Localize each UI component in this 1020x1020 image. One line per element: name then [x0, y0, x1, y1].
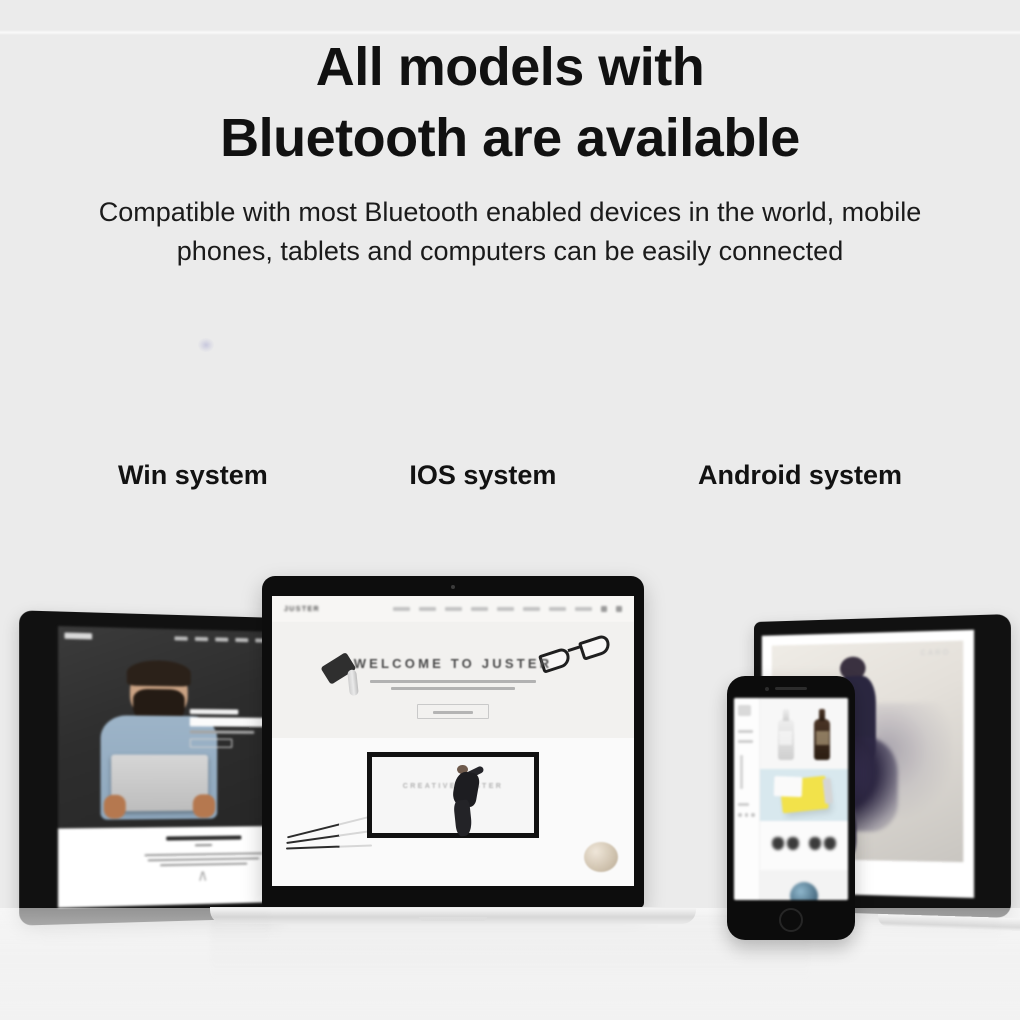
sunglasses-icon [809, 833, 835, 855]
portrait-hands [103, 794, 215, 818]
center-hero-title: WELCOME TO JUSTER [272, 656, 634, 671]
phone-social-icons[interactable] [738, 813, 755, 817]
bottle-brown-icon [814, 719, 830, 760]
portrait-hair [127, 660, 191, 686]
background-artifact-speck [198, 338, 214, 352]
cart-icon[interactable] [616, 606, 622, 612]
portfolio-item-packaging[interactable] [760, 769, 848, 822]
left-about-signature [186, 872, 223, 882]
center-site-hero: WELCOME TO JUSTER [272, 622, 634, 738]
left-nav-item [174, 636, 187, 640]
left-hero-name [190, 717, 264, 727]
left-site-hero [58, 626, 274, 829]
device-left-laptop [19, 610, 280, 925]
sunglasses-icon [772, 833, 798, 855]
center-nav-item[interactable] [419, 607, 436, 611]
phone-menu-item[interactable] [738, 740, 753, 743]
laptop-lid-notch [419, 917, 487, 921]
device-showcase-stage: JUSTER WELCOME TO JU [0, 560, 1020, 1020]
dancer-figure [447, 763, 483, 836]
phone-screen [734, 698, 848, 900]
left-site-about-section [58, 826, 274, 907]
left-about-subheading [195, 844, 212, 846]
left-about-paragraph-line [147, 858, 259, 862]
earpiece-speaker [775, 687, 807, 690]
page-title: All models with Bluetooth are available [0, 32, 1020, 175]
social-icon[interactable] [745, 813, 749, 817]
center-laptop-base [210, 907, 696, 924]
device-phone [727, 676, 855, 940]
headline-line-2: Bluetooth are available [0, 103, 1020, 174]
center-nav-item[interactable] [393, 607, 410, 611]
center-nav-item[interactable] [575, 607, 592, 611]
left-hero-greeting [190, 709, 238, 715]
webcam-icon [451, 585, 455, 589]
hero-subcopy: Compatible with most Bluetooth enabled d… [0, 193, 1020, 271]
headline-line-1: All models with [0, 32, 1020, 103]
left-nav-item [195, 637, 208, 641]
right-laptop-base [878, 914, 1020, 932]
search-icon[interactable] [601, 606, 607, 612]
center-hero-cta-button[interactable] [417, 704, 489, 719]
phone-vertical-label [740, 755, 743, 789]
home-button[interactable] [779, 908, 803, 932]
device-center-laptop: JUSTER WELCOME TO JU [262, 576, 644, 908]
right-photo-caption: CARO [921, 649, 951, 657]
center-nav-item[interactable] [523, 607, 540, 611]
portfolio-item-bottles[interactable] [760, 698, 848, 769]
label-android-system: Android system [698, 460, 902, 491]
phone-site-logo[interactable] [738, 705, 751, 716]
phone-portfolio-grid [760, 698, 848, 900]
left-hero-role [190, 730, 254, 733]
left-nav-item [215, 637, 228, 641]
center-site-navbar: JUSTER [272, 596, 634, 622]
bottle-white-icon [778, 719, 794, 760]
label-win-system: Win system [118, 460, 268, 491]
showcase-framed-image[interactable]: CREATIVE JUSTER [367, 752, 539, 838]
center-nav-item[interactable] [549, 607, 566, 611]
center-nav-item[interactable] [445, 607, 462, 611]
front-camera-icon [765, 687, 769, 691]
left-about-heading [166, 836, 242, 841]
left-site-hero-text [190, 709, 270, 748]
pencils-prop-icon [286, 822, 376, 856]
yellow-package-icon [780, 776, 829, 813]
center-site-logo[interactable]: JUSTER [284, 606, 320, 613]
center-laptop-screen: JUSTER WELCOME TO JU [272, 596, 634, 886]
left-about-paragraph-line [160, 863, 248, 867]
left-about-paragraph-line [145, 853, 262, 857]
left-site-logo [64, 633, 92, 640]
sphere-prop-icon [584, 842, 618, 872]
center-nav-item[interactable] [471, 607, 488, 611]
portfolio-item-sunglasses[interactable] [760, 821, 848, 869]
phone-menu-item[interactable] [738, 730, 753, 733]
center-site-showcase: CREATIVE JUSTER [272, 738, 634, 886]
phone-site-sidebar [734, 698, 760, 900]
system-label-row: Win system IOS system Android system [0, 460, 1020, 491]
left-site-navbar [64, 630, 268, 645]
social-icon[interactable] [738, 813, 742, 817]
label-ios-system: IOS system [409, 460, 556, 491]
portfolio-item-globe[interactable] [760, 870, 848, 900]
social-icon[interactable] [751, 813, 755, 817]
center-nav-item[interactable] [497, 607, 514, 611]
globe-icon [790, 882, 818, 900]
phone-menu-item[interactable] [738, 803, 749, 806]
left-hero-cta-button[interactable] [190, 738, 232, 747]
left-laptop-screen [58, 626, 274, 908]
center-hero-subtitle [272, 680, 634, 694]
hero-copy-block: All models with Bluetooth are available … [0, 32, 1020, 271]
left-nav-item [235, 638, 248, 642]
